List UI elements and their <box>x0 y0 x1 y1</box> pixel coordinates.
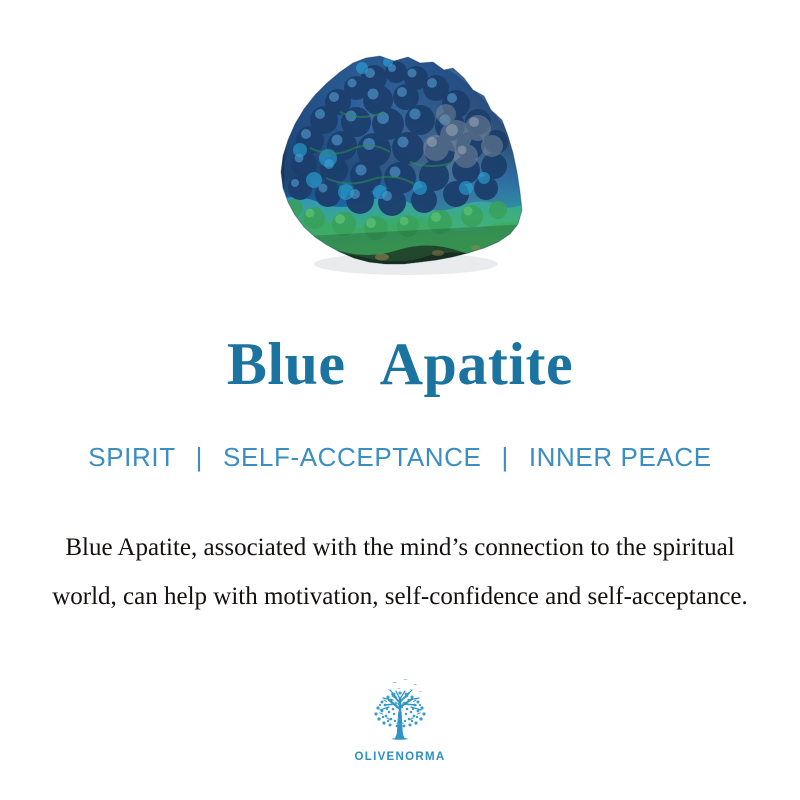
keyword-self-acceptance: SELF-ACCEPTANCE <box>219 443 485 473</box>
keyword-separator-1: | <box>180 443 219 473</box>
specimen-body <box>270 52 530 288</box>
keyword-separator-2: | <box>485 443 524 473</box>
tree-of-life-icon <box>363 676 437 748</box>
keyword-inner-peace: INNER PEACE <box>525 443 716 473</box>
product-title: Blue Apatite <box>0 334 800 394</box>
botryoidal-nodules <box>288 57 508 216</box>
specimen-image-container <box>0 52 800 292</box>
keyword-list: SPIRIT | SELF-ACCEPTANCE | INNER PEACE <box>0 443 800 473</box>
keyword-spirit: SPIRIT <box>84 443 179 473</box>
blue-apatite-specimen-image <box>270 52 530 288</box>
brand-logo[interactable]: OLIVENORMA <box>0 676 800 763</box>
brand-wordmark: OLIVENORMA <box>355 751 446 763</box>
product-description: Blue Apatite, associated with the mind’s… <box>30 523 770 621</box>
product-info-card: Blue Apatite SPIRIT | SELF-ACCEPTANCE | … <box>0 0 800 800</box>
